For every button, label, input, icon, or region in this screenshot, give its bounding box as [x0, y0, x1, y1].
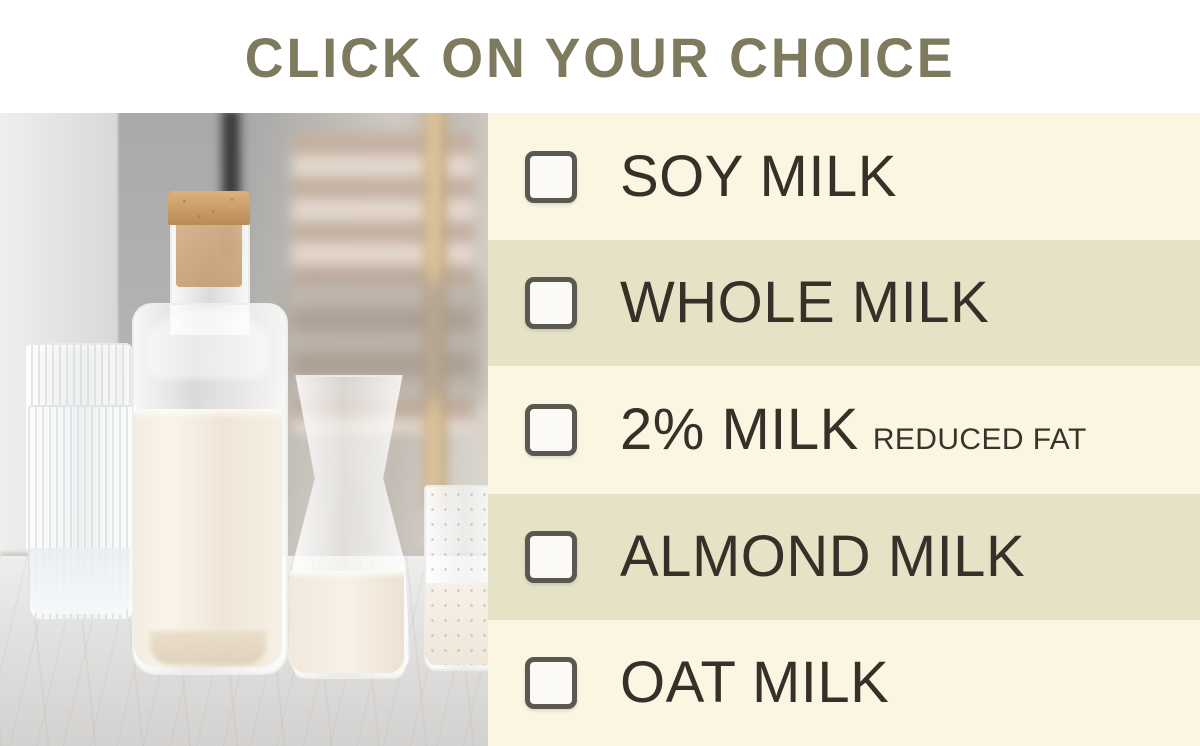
checkbox-oat-milk[interactable] [525, 657, 577, 709]
page-title: CLICK ON YOUR CHOICE [245, 30, 956, 86]
option-sublabel-two-percent: REDUCED FAT [873, 425, 1087, 455]
option-label-almond-milk: ALMOND MILK [620, 528, 1025, 586]
checkbox-almond-milk[interactable] [525, 531, 577, 583]
ribbed-glass-water [30, 548, 130, 614]
option-label-whole-milk: WHOLE MILK [620, 274, 989, 332]
options-panel: SOY MILK WHOLE MILK 2% MILK REDUCED FAT [488, 113, 1200, 746]
second-carafe-milk [290, 571, 404, 673]
carafe-milk [134, 409, 282, 667]
option-text-whole-milk: WHOLE MILK [620, 274, 989, 332]
option-label-two-percent: 2% MILK REDUCED FAT [620, 401, 1087, 459]
option-text-soy-milk: SOY MILK [620, 148, 897, 206]
body-area: SOY MILK WHOLE MILK 2% MILK REDUCED FAT [0, 113, 1200, 746]
option-label-soy-milk: SOY MILK [620, 148, 897, 206]
cork-inner [176, 221, 242, 287]
option-row-two-percent[interactable]: 2% MILK REDUCED FAT [488, 366, 1200, 494]
milk-carafe [132, 191, 284, 671]
option-label-oat-milk: OAT MILK [620, 654, 889, 712]
screen-root: CLICK ON YOUR CHOICE [0, 0, 1200, 746]
checkbox-two-percent[interactable] [525, 404, 577, 456]
milk-photo [0, 113, 488, 746]
carafe-shoulder-highlight [148, 309, 268, 379]
checkbox-whole-milk[interactable] [525, 277, 577, 329]
option-row-whole-milk[interactable]: WHOLE MILK [488, 240, 1200, 366]
checkbox-soy-milk[interactable] [525, 151, 577, 203]
cork-lid [168, 191, 250, 225]
option-row-oat-milk[interactable]: OAT MILK [488, 620, 1200, 746]
option-text-almond-milk: ALMOND MILK [620, 528, 1025, 586]
option-row-almond-milk[interactable]: ALMOND MILK [488, 494, 1200, 620]
dotted-glass-milk [426, 583, 488, 665]
option-text-two-percent: 2% MILK [620, 401, 859, 459]
option-row-soy-milk[interactable]: SOY MILK [488, 113, 1200, 240]
header-bar: CLICK ON YOUR CHOICE [0, 0, 1200, 113]
option-text-oat-milk: OAT MILK [620, 654, 889, 712]
carafe-milk-base [150, 631, 266, 665]
